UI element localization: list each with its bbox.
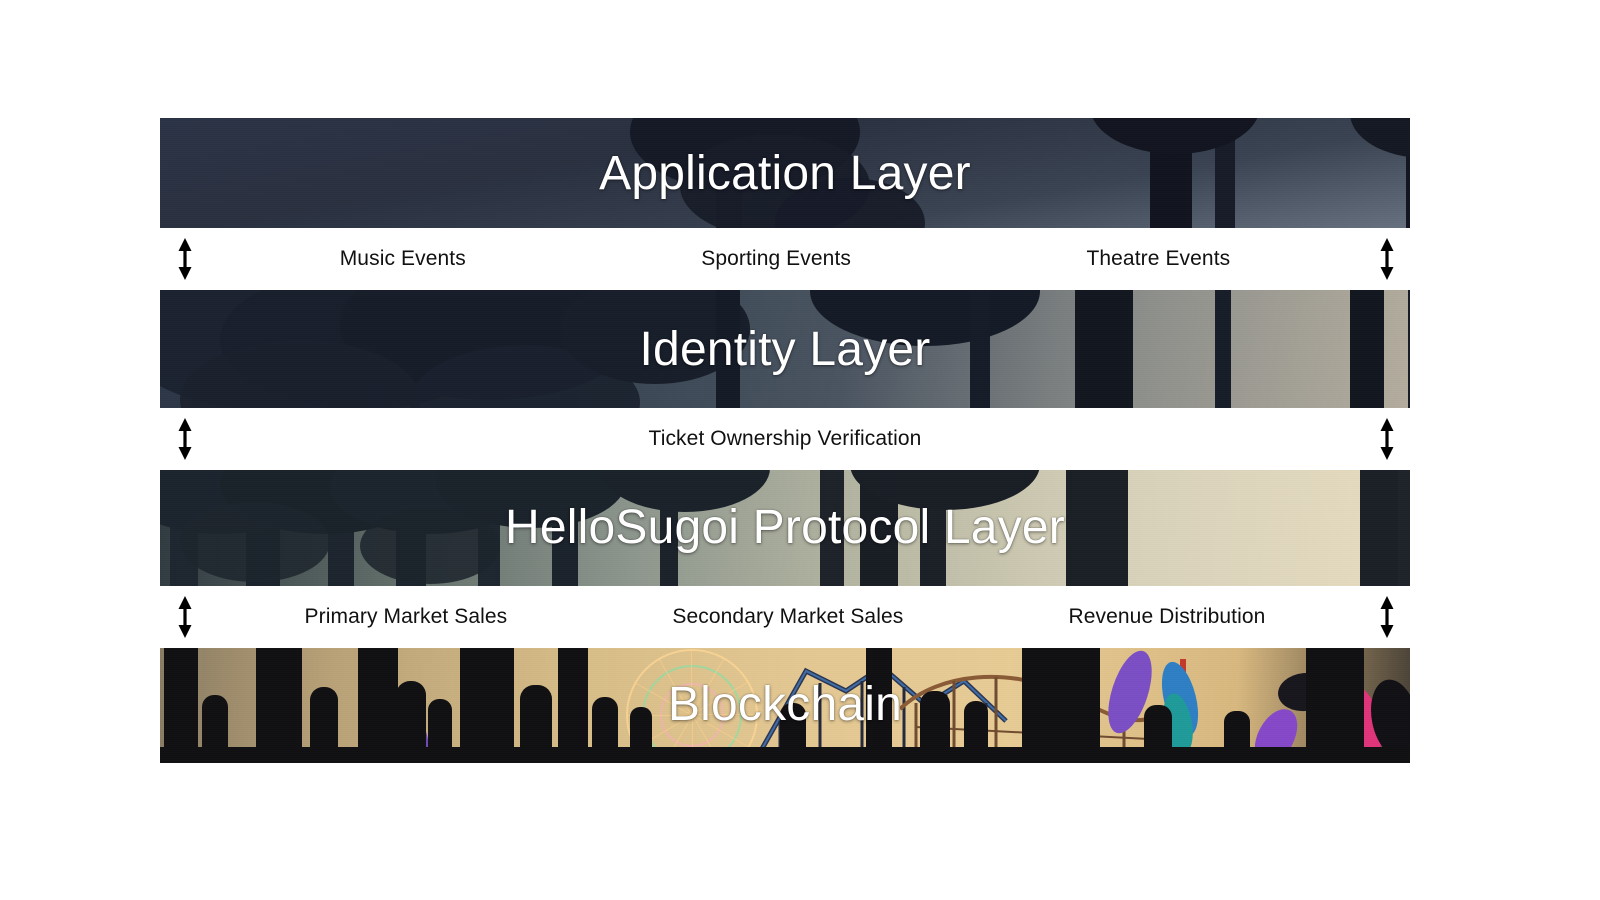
double-headed-vertical-arrow-icon bbox=[1376, 595, 1398, 639]
double-headed-vertical-arrow-icon bbox=[174, 417, 196, 461]
connector-label: Revenue Distribution bbox=[1068, 605, 1265, 629]
connector-label-group: Music Events Sporting Events Theatre Eve… bbox=[222, 247, 1348, 271]
double-headed-vertical-arrow-icon bbox=[1376, 237, 1398, 281]
layer-band-application: Application Layer bbox=[160, 118, 1410, 228]
layer-band-identity: Identity Layer bbox=[160, 290, 1410, 408]
connector-protocol-to-blockchain: Primary Market Sales Secondary Market Sa… bbox=[160, 586, 1410, 648]
layer-band-protocol: HelloSugoi Protocol Layer bbox=[160, 468, 1410, 586]
layer-title-protocol: HelloSugoi Protocol Layer bbox=[160, 468, 1410, 586]
connector-label: Theatre Events bbox=[1086, 247, 1230, 271]
connector-label: Ticket Ownership Verification bbox=[649, 427, 922, 451]
connector-label: Primary Market Sales bbox=[305, 605, 508, 629]
layer-stack: Application Layer Music Events Sporting … bbox=[160, 118, 1410, 763]
double-headed-vertical-arrow-icon bbox=[1376, 417, 1398, 461]
connector-identity-to-protocol: Ticket Ownership Verification bbox=[160, 408, 1410, 470]
connector-label-group: Primary Market Sales Secondary Market Sa… bbox=[222, 605, 1348, 629]
connector-label: Secondary Market Sales bbox=[672, 605, 903, 629]
layer-title-application: Application Layer bbox=[160, 118, 1410, 228]
double-headed-vertical-arrow-icon bbox=[174, 237, 196, 281]
layer-title-blockchain: Blockchain bbox=[160, 645, 1410, 763]
connector-label: Music Events bbox=[340, 247, 466, 271]
connector-label: Sporting Events bbox=[701, 247, 851, 271]
connector-application-to-identity: Music Events Sporting Events Theatre Eve… bbox=[160, 228, 1410, 290]
layer-title-identity: Identity Layer bbox=[160, 290, 1410, 408]
connector-label-group: Ticket Ownership Verification bbox=[222, 427, 1348, 451]
double-headed-vertical-arrow-icon bbox=[174, 595, 196, 639]
layer-band-blockchain: Blockchain bbox=[160, 645, 1410, 763]
